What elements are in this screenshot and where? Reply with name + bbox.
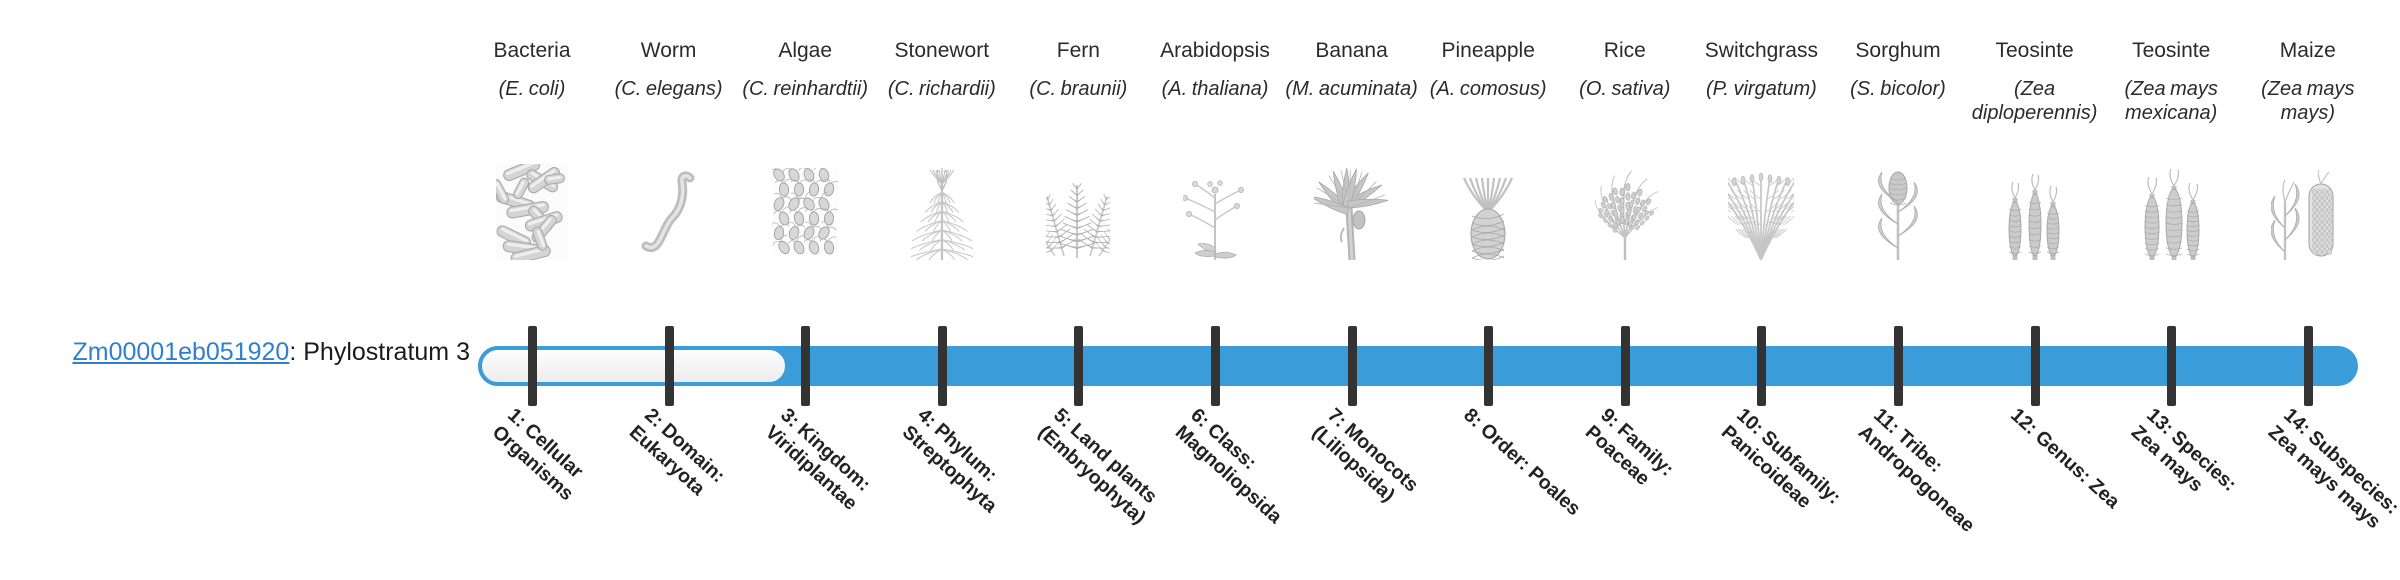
bacteria-icon xyxy=(464,160,600,260)
species-scientific-name: (C. richardii) xyxy=(874,77,1010,101)
maize-icon xyxy=(2240,160,2376,260)
phylostratum-tick-6[interactable] xyxy=(1211,326,1220,406)
species-column-teosinte-12: Teosinte(Zea diploperennis) xyxy=(1967,38,2103,125)
rank-label-10: 10: Subfamily: Panicoideae xyxy=(1717,404,1859,539)
rice-icon xyxy=(1557,160,1693,260)
species-scientific-name: (E. coli) xyxy=(464,77,600,101)
phylostratum-tick-10[interactable] xyxy=(1757,326,1766,406)
teosinte-mex-icon xyxy=(2103,160,2239,260)
species-column-pineapple-8: Pineapple(A. comosus) xyxy=(1420,38,1556,101)
phylostratum-tick-8[interactable] xyxy=(1484,326,1493,406)
species-scientific-name: (Zea mays mexicana) xyxy=(2103,77,2239,125)
species-scientific-name: (C. elegans) xyxy=(601,77,737,101)
species-column-worm-2: Worm(C. elegans) xyxy=(601,38,737,101)
teosinte-diplo-icon xyxy=(1967,160,2103,260)
pineapple-icon xyxy=(1420,160,1556,260)
species-common-name: Stonewort xyxy=(874,38,1010,63)
phylostratum-track[interactable] xyxy=(478,346,2358,386)
species-column-switchgrass-10: Switchgrass(P. virgatum) xyxy=(1693,38,1829,101)
phylostratum-tick-9[interactable] xyxy=(1621,326,1630,406)
species-scientific-name: (Zea mays mays) xyxy=(2240,77,2376,125)
species-column-bacteria-1: Bacteria(E. coli) xyxy=(464,38,600,101)
phylostratum-tick-2[interactable] xyxy=(665,326,674,406)
rank-label-12: 12: Genus: Zea xyxy=(2005,404,2132,521)
rank-label-9: 9: Family: Poaceae xyxy=(1580,404,1722,539)
phylostratum-tick-3[interactable] xyxy=(801,326,810,406)
species-common-name: Switchgrass xyxy=(1693,38,1829,63)
species-common-name: Arabidopsis xyxy=(1147,38,1283,63)
species-column-fern-5: Fern(C. braunii) xyxy=(1010,38,1146,101)
rank-label-8: 8: Order: Poales xyxy=(1459,404,1586,521)
species-common-name: Banana xyxy=(1284,38,1420,63)
species-common-name: Fern xyxy=(1010,38,1146,63)
switchgrass-icon xyxy=(1693,160,1829,260)
rank-label-4: 4: Phylum: Streptophyta xyxy=(897,404,1039,539)
species-common-name: Teosinte xyxy=(2103,38,2239,63)
worm-icon xyxy=(601,160,737,260)
species-column-algae-3: Algae(C. reinhardtii) xyxy=(737,38,873,101)
phylostratum-tick-7[interactable] xyxy=(1348,326,1357,406)
species-common-name: Bacteria xyxy=(464,38,600,63)
rank-label-5: 5: Land plants (Embryophyta) xyxy=(1034,404,1176,539)
species-common-name: Maize xyxy=(2240,38,2376,63)
species-scientific-name: (P. virgatum) xyxy=(1693,77,1829,101)
phylostratum-tick-14[interactable] xyxy=(2304,326,2313,406)
species-column-banana-7: Banana(M. acuminata) xyxy=(1284,38,1420,101)
stonewort-icon xyxy=(874,160,1010,260)
species-scientific-name: (Zea diploperennis) xyxy=(1967,77,2103,125)
species-header-row: Bacteria(E. coli)Worm(C. elegans)Algae(C… xyxy=(464,38,2400,308)
species-column-rice-9: Rice(O. sativa) xyxy=(1557,38,1693,101)
phylostratum-tick-5[interactable] xyxy=(1074,326,1083,406)
phylostratum-bar-area xyxy=(0,318,2400,388)
sorghum-icon xyxy=(1830,160,1966,260)
species-scientific-name: (A. thaliana) xyxy=(1147,77,1283,101)
species-column-sorghum-11: Sorghum(S. bicolor) xyxy=(1830,38,1966,101)
species-scientific-name: (S. bicolor) xyxy=(1830,77,1966,101)
species-column-arabidopsis-6: Arabidopsis(A. thaliana) xyxy=(1147,38,1283,101)
species-common-name: Teosinte xyxy=(1967,38,2103,63)
species-scientific-name: (C. reinhardtii) xyxy=(737,77,873,101)
species-common-name: Algae xyxy=(737,38,873,63)
species-scientific-name: (C. braunii) xyxy=(1010,77,1146,101)
algae-icon xyxy=(737,160,873,260)
phylostratum-tick-13[interactable] xyxy=(2167,326,2176,406)
species-common-name: Pineapple xyxy=(1420,38,1556,63)
rank-label-6: 6: Class: Magnoliopsida xyxy=(1170,404,1312,539)
phylostratum-unfilled-segment xyxy=(478,346,789,386)
rank-label-11: 11: Tribe: Andropogoneae xyxy=(1853,404,1995,539)
species-scientific-name: (M. acuminata) xyxy=(1284,77,1420,101)
species-common-name: Rice xyxy=(1557,38,1693,63)
species-scientific-name: (O. sativa) xyxy=(1557,77,1693,101)
species-common-name: Sorghum xyxy=(1830,38,1966,63)
fern-icon xyxy=(1010,160,1146,260)
phylostratum-tick-1[interactable] xyxy=(528,326,537,406)
species-column-stonewort-4: Stonewort(C. richardii) xyxy=(874,38,1010,101)
phylostratum-tick-4[interactable] xyxy=(938,326,947,406)
rank-label-2: 2: Domain: Eukaryota xyxy=(624,404,766,539)
arabidopsis-icon xyxy=(1147,160,1283,260)
taxonomic-rank-labels: 1: Cellular Organisms2: Domain: Eukaryot… xyxy=(0,404,2400,580)
rank-label-13: 13: Species: Zea mays xyxy=(2126,404,2268,539)
rank-label-7: 7: Monocots (Liliopsida) xyxy=(1307,404,1449,539)
species-common-name: Worm xyxy=(601,38,737,63)
banana-icon xyxy=(1284,160,1420,260)
rank-label-3: 3: Kingdom: Viridiplantae xyxy=(760,404,902,539)
species-column-teosinte-13: Teosinte(Zea mays mexicana) xyxy=(2103,38,2239,125)
rank-label-1: 1: Cellular Organisms xyxy=(487,404,629,539)
phylostratum-tick-12[interactable] xyxy=(2031,326,2040,406)
phylostratum-tick-11[interactable] xyxy=(1894,326,1903,406)
species-scientific-name: (A. comosus) xyxy=(1420,77,1556,101)
rank-label-14: 14: Subspecies: Zea mays mays xyxy=(2263,404,2400,539)
species-column-maize-14: Maize(Zea mays mays) xyxy=(2240,38,2376,125)
